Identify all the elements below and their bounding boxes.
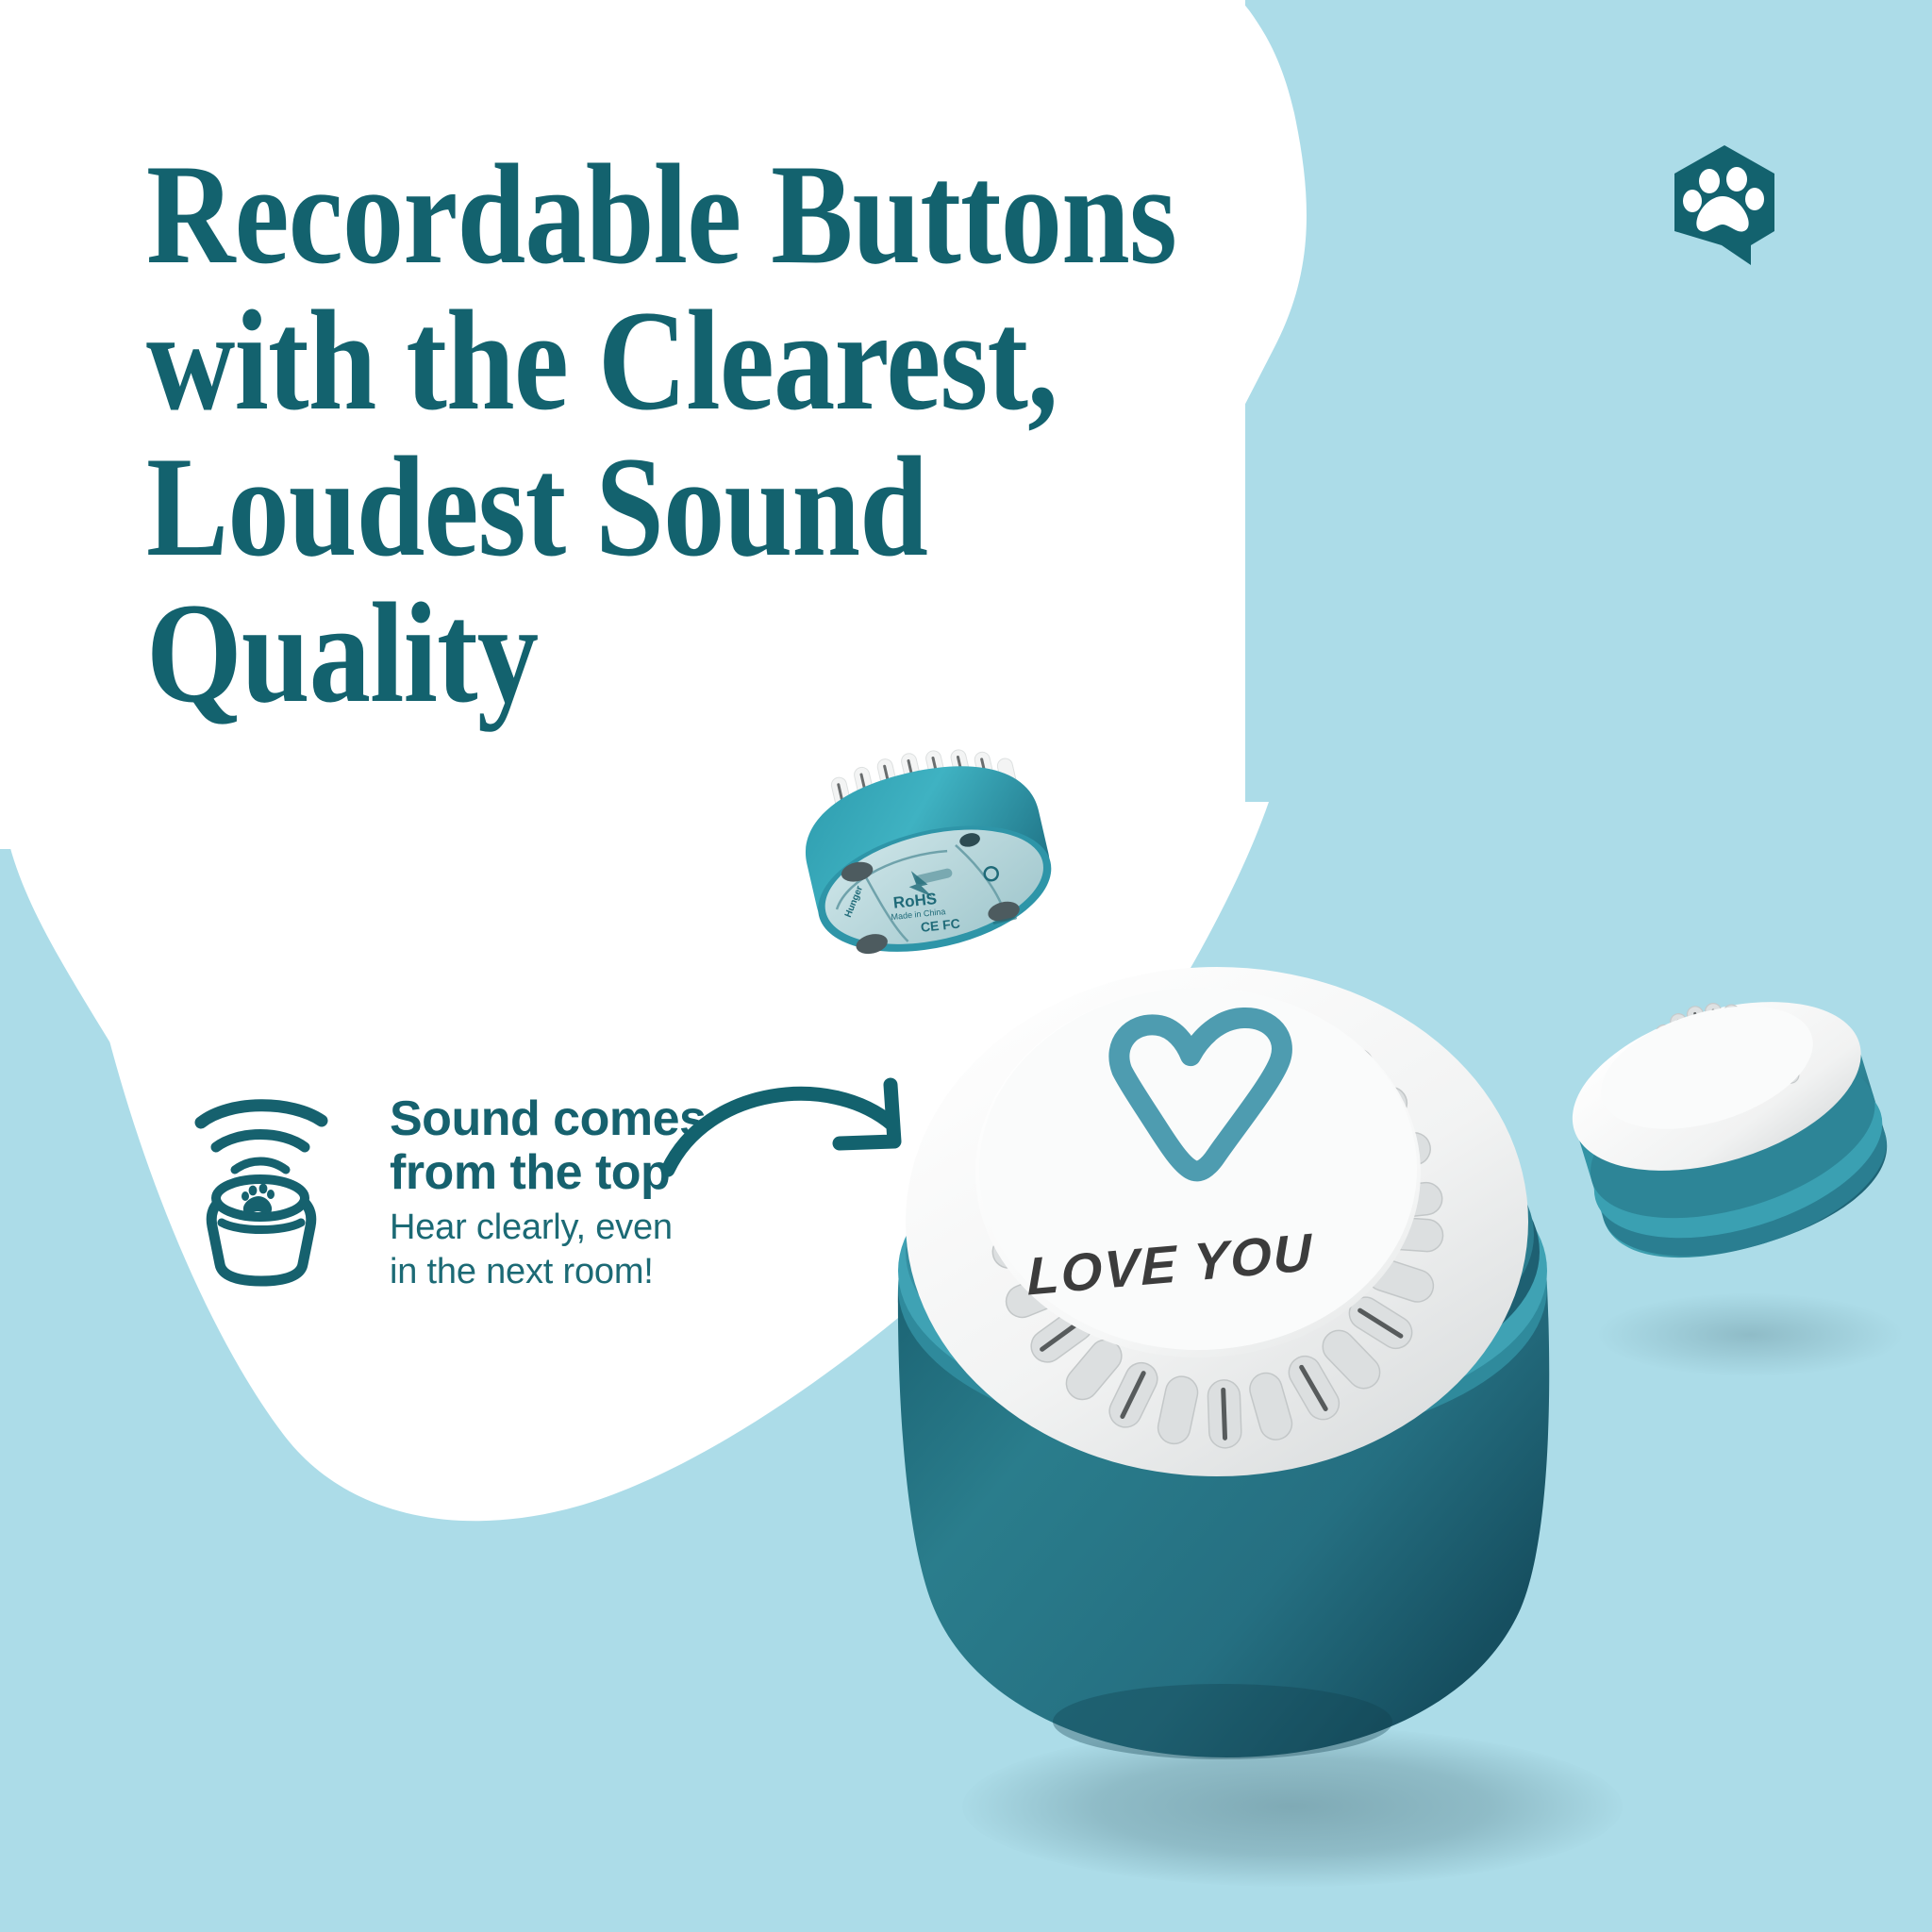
paw-print: [241, 1184, 275, 1214]
recordable-button-underside[interactable]: RoHS Made in China CE FC Hunger: [792, 745, 1075, 1009]
bowl-with-sound-waves-icon: [193, 1098, 363, 1287]
headline-line-2: with the Clearest,: [146, 288, 1104, 434]
right-button-shadow: [1594, 1292, 1906, 1377]
recordable-button-main[interactable]: LOVE YOU: [821, 910, 1623, 1759]
poster-canvas: Recordable Buttons with the Clearest, Lo…: [0, 0, 1932, 1932]
headline: Recordable Buttons with the Clearest, Lo…: [146, 142, 1104, 726]
headline-line-3: Loudest Sound: [146, 434, 1104, 580]
paw-speech-bubble-logo: [1668, 143, 1781, 268]
headline-line-1: Recordable Buttons: [146, 142, 1104, 288]
recordable-button-side-view[interactable]: [1538, 943, 1915, 1292]
headline-line-4: Quality: [146, 580, 1104, 726]
